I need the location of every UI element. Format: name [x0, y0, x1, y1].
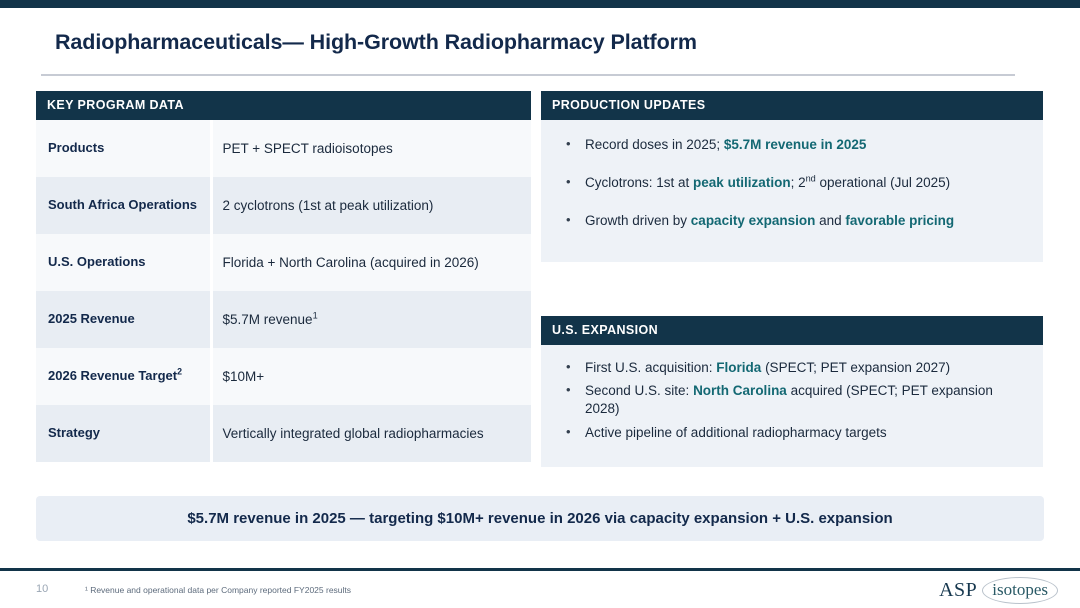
bullet-text-pre: Record doses in 2025;: [585, 137, 724, 152]
row-value: $10M+: [211, 348, 531, 405]
table-row: Strategy Vertically integrated global ra…: [36, 405, 531, 462]
row-value-text: PET + SPECT radioisotopes: [223, 141, 393, 156]
bullet-text-pre: Growth driven by: [585, 213, 691, 228]
row-label-text: 2026 Revenue Target: [48, 368, 177, 383]
row-value: 2 cyclotrons (1st at peak utilization): [211, 177, 531, 234]
logo-ellipse-shape: isotopes: [982, 577, 1058, 604]
row-value: Vertically integrated global radiopharma…: [211, 405, 531, 462]
table-row: U.S. Operations Florida + North Carolina…: [36, 234, 531, 291]
row-value: $5.7M revenue1: [211, 291, 531, 348]
bullet-text-pre: Second U.S. site:: [585, 383, 693, 398]
row-value-text: Florida + North Carolina (acquired in 20…: [223, 255, 479, 270]
list-item: First U.S. acquisition: Florida (SPECT; …: [557, 359, 1027, 377]
footnote-marker: 1: [313, 311, 318, 321]
bullet-text-pre: First U.S. acquisition:: [585, 360, 716, 375]
page-number: 10: [36, 583, 48, 595]
list-item: Second U.S. site: North Carolina acquire…: [557, 382, 1027, 418]
row-label: U.S. Operations: [36, 234, 211, 291]
list-item: Growth driven by capacity expansion and …: [557, 212, 1027, 230]
bullet-text-pre: Active pipeline of additional radiopharm…: [585, 425, 887, 440]
row-label-text: 2025 Revenue: [48, 311, 135, 326]
row-value-text: 2 cyclotrons (1st at peak utilization): [223, 198, 434, 213]
company-logo: ASP isotopes: [939, 578, 1058, 602]
top-accent-bar: [0, 0, 1080, 8]
row-label: Products: [36, 120, 211, 177]
key-program-data-table: Products PET + SPECT radioisotopes South…: [36, 120, 531, 462]
row-label: South Africa Operations: [36, 177, 211, 234]
bullet-highlight: Florida: [716, 360, 761, 375]
us-expansion-header: U.S. EXPANSION: [541, 316, 1043, 345]
row-value: Florida + North Carolina (acquired in 20…: [211, 234, 531, 291]
ordinal-suffix: nd: [806, 174, 816, 184]
row-label-text: U.S. Operations: [48, 254, 146, 269]
us-expansion-panel: U.S. EXPANSION First U.S. acquisition: F…: [541, 316, 1043, 467]
list-item: Record doses in 2025; $5.7M revenue in 2…: [557, 136, 1027, 154]
row-label-text: Products: [48, 140, 104, 155]
table-row: Products PET + SPECT radioisotopes: [36, 120, 531, 177]
bullet-text-post: (SPECT; PET expansion 2027): [761, 360, 950, 375]
slide-root: Radiopharmaceuticals— High-Growth Radiop…: [0, 0, 1080, 608]
row-value-text: Vertically integrated global radiopharma…: [223, 426, 484, 441]
table-row: 2026 Revenue Target2 $10M+: [36, 348, 531, 405]
footnote-marker: 2: [177, 367, 182, 377]
key-program-data-panel: KEY PROGRAM DATA Products PET + SPECT ra…: [36, 91, 531, 462]
row-value-text: $5.7M revenue: [223, 312, 313, 327]
table-row: South Africa Operations 2 cyclotrons (1s…: [36, 177, 531, 234]
row-label: 2025 Revenue: [36, 291, 211, 348]
footer-divider: [0, 568, 1080, 571]
summary-banner-text: $5.7M revenue in 2025 — targeting $10M+ …: [187, 510, 892, 527]
production-updates-header: PRODUCTION UPDATES: [541, 91, 1043, 120]
bullet-text-post: operational (Jul 2025): [816, 175, 950, 190]
us-expansion-list: First U.S. acquisition: Florida (SPECT; …: [557, 359, 1027, 442]
bullet-text-pre: Cyclotrons: 1st at: [585, 175, 693, 190]
row-value-text: $10M+: [223, 369, 265, 384]
bullet-highlight: North Carolina: [693, 383, 787, 398]
bullet-text-mid: and: [815, 213, 845, 228]
footnote-text: ¹ Revenue and operational data per Compa…: [85, 585, 351, 595]
summary-banner: $5.7M revenue in 2025 — targeting $10M+ …: [36, 496, 1044, 541]
logo-secondary-text: isotopes: [992, 580, 1048, 600]
title-divider: [41, 74, 1015, 76]
row-label: 2026 Revenue Target2: [36, 348, 211, 405]
row-label: Strategy: [36, 405, 211, 462]
page-title: Radiopharmaceuticals— High-Growth Radiop…: [55, 30, 697, 55]
list-item: Active pipeline of additional radiopharm…: [557, 424, 1027, 442]
logo-primary-text: ASP: [939, 579, 977, 602]
us-expansion-body: First U.S. acquisition: Florida (SPECT; …: [541, 345, 1043, 467]
production-updates-panel: PRODUCTION UPDATES Record doses in 2025;…: [541, 91, 1043, 262]
bullet-text-mid: ; 2: [791, 175, 806, 190]
row-label-text: South Africa Operations: [48, 197, 197, 212]
bullet-highlight: $5.7M revenue in 2025: [724, 137, 867, 152]
bullet-highlight: capacity expansion: [691, 213, 816, 228]
row-label-text: Strategy: [48, 425, 100, 440]
production-updates-list: Record doses in 2025; $5.7M revenue in 2…: [557, 136, 1027, 231]
bullet-highlight: peak utilization: [693, 175, 791, 190]
key-program-data-header: KEY PROGRAM DATA: [36, 91, 531, 120]
list-item: Cyclotrons: 1st at peak utilization; 2nd…: [557, 174, 1027, 192]
bullet-highlight-2: favorable pricing: [845, 213, 954, 228]
production-updates-body: Record doses in 2025; $5.7M revenue in 2…: [541, 120, 1043, 262]
row-value: PET + SPECT radioisotopes: [211, 120, 531, 177]
table-row: 2025 Revenue $5.7M revenue1: [36, 291, 531, 348]
